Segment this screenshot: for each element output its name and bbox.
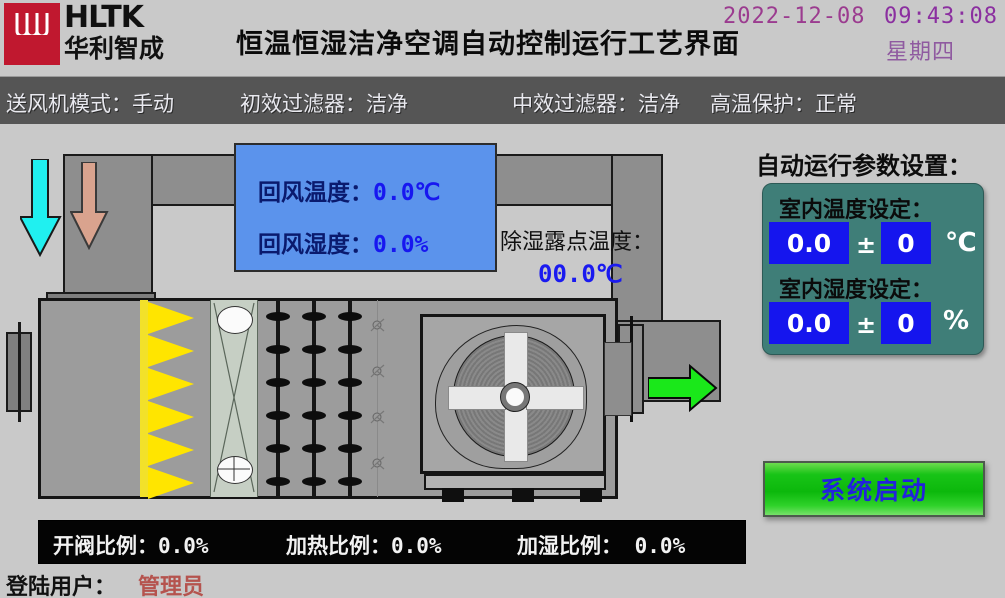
heating-ratio-label: 加热比例： <box>286 534 391 558</box>
logo-english: HLTK <box>64 2 143 34</box>
indoor-temp-tolerance-field[interactable]: 0 <box>881 222 931 264</box>
coil-fin <box>338 477 362 486</box>
return-temp-label: 回风温度： <box>258 180 373 206</box>
indoor-humidity-setpoint-label: 室内湿度设定： <box>779 272 933 304</box>
fan-foot-right <box>580 488 602 502</box>
hmi-screen: HLTK 华利智成 恒温恒湿洁净空调自动控制运行工艺界面 2022-12-08 … <box>0 0 1005 598</box>
coil-fin <box>338 345 362 354</box>
coil-fin <box>338 444 362 453</box>
system-start-label: 系统启动 <box>820 471 928 507</box>
filter-backplate <box>140 300 148 497</box>
login-user-value: 管理员 <box>138 569 204 598</box>
return-humidity-label: 回风湿度： <box>258 232 373 258</box>
auto-params-panel: 室内温度设定： 0.0 ± 0 ℃ 室内湿度设定： 0.0 ± 0 % <box>762 183 984 355</box>
coil-fin <box>266 444 290 453</box>
system-time: 09:43:08 <box>884 4 998 29</box>
auto-params-title: 自动运行参数设置： <box>756 146 972 181</box>
coil-fin <box>338 312 362 321</box>
fresh-air-down-arrow-icon <box>20 159 62 257</box>
fan-motor-block <box>604 342 632 416</box>
humidity-plusminus-symbol: ± <box>856 311 876 339</box>
valve-ratio-label: 开阀比例： <box>53 534 158 558</box>
fan-blade-right <box>526 386 584 410</box>
filter-tooth <box>148 368 194 400</box>
coil-fin <box>266 345 290 354</box>
heating-ratio-value: 0.0% <box>391 534 442 558</box>
filter-tooth <box>148 335 194 367</box>
coil-pipe <box>348 300 352 497</box>
spray-nozzle-icon <box>370 318 386 334</box>
login-user-label: 登陆用户： <box>6 569 116 598</box>
fan-hub <box>500 382 530 412</box>
humidity-unit-label: % <box>943 306 969 336</box>
humidifier-section <box>210 300 258 497</box>
spray-nozzle-icon <box>370 456 386 472</box>
status-primary-filter[interactable]: 初效过滤器：洁净 <box>240 88 408 118</box>
coil-fin <box>266 378 290 387</box>
coil-fin <box>302 444 326 453</box>
filter-tooth <box>148 401 194 433</box>
cross-hair-icon <box>218 457 250 481</box>
supply-fan-housing <box>420 314 606 474</box>
dew-point-label: 除湿露点温度： <box>500 224 654 256</box>
coil-fin <box>302 411 326 420</box>
fan-hub-center <box>506 388 524 406</box>
spray-nozzle-icon <box>370 410 386 426</box>
indoor-humidity-setpoint-field[interactable]: 0.0 <box>769 302 849 344</box>
fan-blade-bottom <box>504 404 528 462</box>
status-bar: 送风机模式：手动 初效过滤器：洁净 中效过滤器：洁净 高温保护：正常 <box>0 76 1005 126</box>
system-weekday: 星期四 <box>886 34 955 66</box>
humidifier-nozzle-bottom-icon <box>217 456 253 484</box>
process-diagram: 回风温度：0.0℃ 回风湿度：0.0% 除湿露点温度： 00.0℃ 自动运行参数… <box>0 124 1005 566</box>
coil-fin <box>302 477 326 486</box>
coil-pipe <box>312 300 316 497</box>
dew-point-value: 00.0℃ <box>538 260 623 288</box>
spray-nozzle-icon <box>370 364 386 380</box>
hltk-logo-icon <box>14 11 50 41</box>
indoor-temp-setpoint-label: 室内温度设定： <box>779 192 933 224</box>
temp-unit-label: ℃ <box>945 228 976 258</box>
return-humidity-value: 0.0% <box>373 232 428 258</box>
return-temp-row: 回风温度：0.0℃ <box>258 173 440 207</box>
temp-plusminus-symbol: ± <box>856 231 876 259</box>
indoor-temp-setpoint-field[interactable]: 0.0 <box>769 222 849 264</box>
fan-impeller-icon <box>453 335 575 457</box>
header-bar: HLTK 华利智成 恒温恒湿洁净空调自动控制运行工艺界面 2022-12-08 … <box>0 0 1005 72</box>
return-temp-value: 0.0℃ <box>373 180 440 206</box>
ratio-status-bar: 开阀比例：0.0% 加热比例：0.0% 加湿比例： 0.0% <box>38 520 746 564</box>
page-title: 恒温恒湿洁净空调自动控制运行工艺界面 <box>236 22 740 61</box>
humidify-ratio-label: 加湿比例： <box>517 534 622 558</box>
system-date: 2022-12-08 <box>723 4 865 29</box>
filter-tooth <box>148 467 194 499</box>
return-humidity-row: 回风湿度：0.0% <box>258 225 428 259</box>
system-start-button[interactable]: 系统启动 <box>763 461 985 517</box>
company-logo-text: HLTK 华利智成 <box>64 2 194 66</box>
filter-tooth <box>148 434 194 466</box>
supply-air-right-arrow-icon <box>648 364 718 414</box>
coil-fin <box>266 411 290 420</box>
filter-tooth <box>148 302 194 334</box>
fan-foot-mid <box>512 488 534 502</box>
return-air-readout-box: 回风温度：0.0℃ 回风湿度：0.0% <box>234 143 497 272</box>
login-bar: 登陆用户： 管理员 <box>0 566 1005 598</box>
humidifier-nozzle-top-icon <box>217 306 253 334</box>
valve-ratio-value: 0.0% <box>158 534 209 558</box>
coil-pipe <box>276 300 280 497</box>
logo-chinese: 华利智成 <box>64 34 164 64</box>
coil-fin <box>302 312 326 321</box>
indoor-humidity-tolerance-field[interactable]: 0 <box>881 302 931 344</box>
return-air-down-arrow-icon <box>70 162 110 250</box>
status-fan-mode[interactable]: 送风机模式：手动 <box>6 88 174 118</box>
status-medium-filter[interactable]: 中效过滤器：洁净 <box>512 88 680 118</box>
coil-fin <box>302 378 326 387</box>
coil-fin <box>302 345 326 354</box>
coil-fin <box>338 378 362 387</box>
fan-foot-left <box>442 488 464 502</box>
humidify-ratio-value: 0.0% <box>622 534 685 558</box>
coil-fin <box>266 477 290 486</box>
heating-ratio-item: 加热比例：0.0% <box>286 530 442 560</box>
valve-ratio-item: 开阀比例：0.0% <box>53 530 209 560</box>
coil-fin <box>338 411 362 420</box>
company-logo-mark <box>4 3 60 65</box>
humidify-ratio-item: 加湿比例： 0.0% <box>517 530 685 560</box>
status-high-temp-protection[interactable]: 高温保护：正常 <box>710 88 857 118</box>
coil-fin <box>266 312 290 321</box>
fan-blade-left <box>448 386 506 410</box>
ahu-inlet-bar <box>18 322 21 422</box>
